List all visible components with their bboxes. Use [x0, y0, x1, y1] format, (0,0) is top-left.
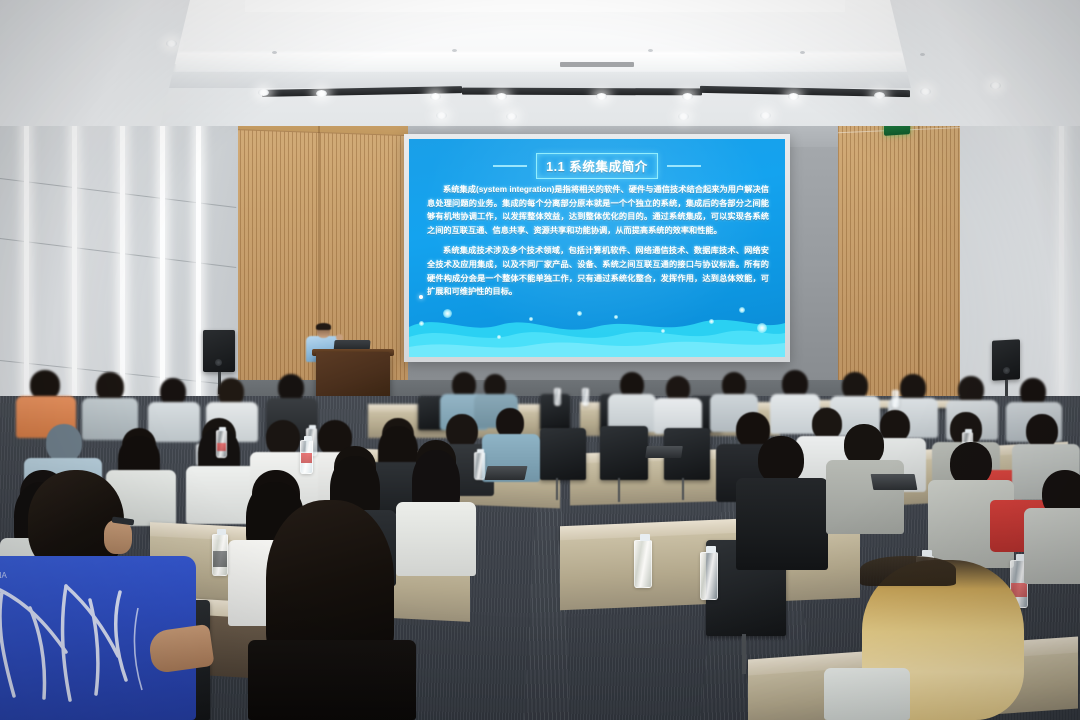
ceiling-slope-right [890, 0, 1080, 126]
bottle-far-2 [582, 388, 589, 406]
slide-paragraph-1: 系统集成(system integration)是指将相关的软件、硬件与通信技术… [427, 183, 769, 237]
audience-body-f3 [148, 402, 200, 442]
bottle-near-2 [300, 440, 313, 474]
audience-body-n5 [736, 478, 828, 570]
downlight-6 [596, 93, 607, 100]
audience-head-n5 [758, 436, 804, 484]
bottle-far-1 [554, 388, 561, 406]
chair-leg-near-1 [742, 634, 746, 674]
audience-laptop-2 [871, 474, 918, 490]
foreground-right-edge-body [1024, 508, 1080, 584]
ceiling-vent [560, 62, 634, 67]
chair-leg-mid-3 [682, 478, 684, 500]
right-pa-speaker [992, 339, 1020, 380]
foreground-blonde-roots [860, 556, 956, 586]
downlight-15 [760, 112, 771, 119]
downlight-8 [788, 93, 799, 100]
projection-screen-bezel: 1.1 系统集成简介 系统集成(system integration)是指将相关… [404, 134, 790, 362]
ceiling-coffer-inner [245, 0, 845, 12]
bottle-label-near-1 [213, 551, 227, 567]
wood-panel-seam-right [918, 108, 920, 403]
chair-leg-mid-2 [618, 478, 620, 502]
slide-title-row: 1.1 系统集成简介 [409, 153, 785, 179]
bottle-cap-near-3 [640, 534, 650, 541]
wave-svg [409, 301, 785, 357]
slide-title-rule-right [667, 165, 701, 167]
slide-wave-decoration [409, 301, 785, 357]
slide-title: 1.1 系统集成简介 [546, 156, 648, 175]
wave-glow-dot-4 [577, 311, 582, 316]
ceiling-fixture-dot-2 [452, 49, 457, 52]
downlight-9 [874, 92, 885, 99]
left-pa-speaker [203, 330, 235, 372]
wave-glow-dot-1 [443, 309, 452, 318]
projection-screen: 1.1 系统集成简介 系统集成(system integration)是指将相关… [409, 139, 785, 357]
slide-paragraph-2: 系统集成技术涉及多个技术领域，包括计算机软件、网络通信技术、数据库技术、网络安全… [427, 244, 769, 298]
downlight-13 [506, 113, 517, 120]
bottle-cap-near-2 [304, 436, 312, 441]
wave-glow-dot-2 [419, 321, 424, 326]
downlight-4 [430, 93, 441, 100]
downlight-2 [258, 89, 269, 96]
bottle-cap-mid-3 [477, 449, 484, 453]
audience-head-m3 [446, 414, 478, 448]
downlight-10 [920, 88, 931, 95]
audience-head-m10 [46, 424, 82, 462]
slide-body: 系统集成(system integration)是指将相关的软件、硬件与通信技术… [427, 183, 769, 306]
downlight-11 [990, 82, 1001, 89]
ceiling-fixture-dot-3 [648, 49, 653, 52]
ceiling-fixture-dot-4 [800, 51, 805, 54]
wave-glow-dot-9 [757, 323, 767, 333]
wave-glow-dot-3 [529, 317, 533, 321]
bottle-cap-mid-1 [219, 427, 226, 431]
audience-laptop-1 [485, 466, 528, 480]
bottle-label-near-2 [301, 453, 312, 463]
svg-text:CHINA: CHINA [0, 571, 8, 580]
bottle-cap-near-1 [217, 529, 226, 535]
ceiling-fixture-dot-1 [272, 51, 277, 54]
speaker-cone-right [1003, 367, 1010, 374]
audience-laptop-3 [645, 446, 683, 458]
slide-title-box: 1.1 系统集成简介 [536, 153, 658, 179]
downlight-1 [166, 40, 177, 47]
bottle-near-3 [634, 540, 652, 588]
bottle-cap-near-4 [706, 546, 716, 553]
bottle-label-mid-1 [217, 443, 226, 451]
bottle-cap-mid-2 [309, 425, 316, 429]
wave-glow-dot-5 [614, 315, 618, 319]
audience-body-n6 [826, 460, 904, 534]
conference-room-photo: 1.1 系统集成简介 系统集成(system integration)是指将相关… [0, 0, 1080, 720]
downlight-7 [682, 93, 693, 100]
foreground-black-hair-body [248, 640, 416, 720]
bottle-far-3 [892, 390, 899, 408]
ceiling-fixture-dot-5 [920, 53, 925, 56]
chair-mid-1 [540, 428, 586, 480]
audience-head-m9 [1026, 414, 1058, 448]
downlight-14 [678, 113, 689, 120]
speaker-cone-left [215, 359, 222, 366]
wave-glow-dot-8 [739, 307, 745, 313]
downlight-5 [496, 93, 507, 100]
wave-glow-dot-6 [661, 329, 665, 333]
downlight-3 [316, 90, 327, 97]
audience-body-n3 [396, 502, 476, 576]
chair-mid-2 [600, 426, 648, 480]
bottle-cap-mid-4 [965, 429, 972, 433]
chair-leg-mid-1 [556, 478, 558, 500]
wave-glow-dot-7 [709, 319, 714, 324]
bottle-mid-1 [216, 430, 227, 458]
downlight-12 [436, 112, 447, 119]
bottle-near-1 [212, 534, 228, 576]
bottle-near-4 [700, 552, 718, 600]
wave-glow-dot-10 [497, 335, 501, 339]
foreground-blonde-body [824, 668, 910, 720]
bottle-mid-3 [474, 452, 485, 480]
audience-head-m13 [266, 420, 300, 456]
ceiling-cove-light [175, 52, 910, 72]
foreground-blue-person-ear [104, 520, 132, 554]
presenter-hair [316, 323, 331, 330]
slide-bullet-marker [419, 295, 423, 299]
slide-title-rule-left [493, 165, 527, 167]
ceiling-slope-left [0, 0, 190, 126]
